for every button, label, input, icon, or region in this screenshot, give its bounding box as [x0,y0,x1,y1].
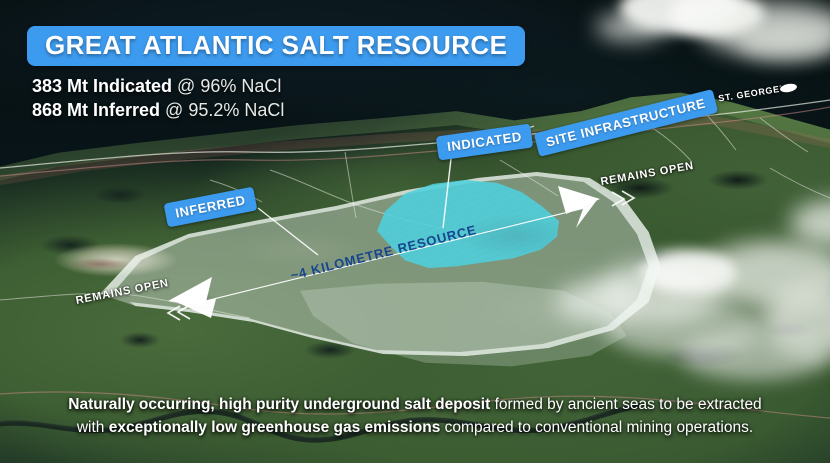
slide-canvas: INDICATED SITE INFRASTRUCTURE INFERRED R… [0,0,830,463]
caption-line-2-pre: with [77,419,109,436]
caption: Naturally occurring, high purity undergr… [0,393,830,440]
resource-stats: 383 Mt Indicated @ 96% NaCl 868 Mt Infer… [32,74,284,122]
stat-row: 868 Mt Inferred @ 95.2% NaCl [32,98,284,122]
page-title-text: GREAT ATLANTIC SALT RESOURCE [45,32,507,58]
stat-grade-inferred: @ 95.2% NaCl [160,100,284,120]
caption-line-1-rest: formed by ancient seas to be extracted [490,396,761,413]
stat-tonnage-indicated: 383 Mt Indicated [32,76,172,96]
remains-open-chevron-left [168,305,190,320]
stat-row: 383 Mt Indicated @ 96% NaCl [32,74,284,98]
caption-line-2: with exceptionally low greenhouse gas em… [20,416,810,439]
caption-line-2-bold: exceptionally low greenhouse gas emissio… [109,419,441,436]
stat-tonnage-inferred: 868 Mt Inferred [32,100,160,120]
stat-grade-indicated: @ 96% NaCl [172,76,281,96]
page-title: GREAT ATLANTIC SALT RESOURCE [27,26,525,66]
remains-open-chevron-right [612,191,634,206]
caption-line-1: Naturally occurring, high purity undergr… [20,393,810,416]
indicated-leader-line [443,150,452,228]
caption-line-1-bold: Naturally occurring, high purity undergr… [68,396,490,413]
inferred-leader-line [258,208,318,255]
caption-line-2-rest: compared to conventional mining operatio… [440,419,753,436]
